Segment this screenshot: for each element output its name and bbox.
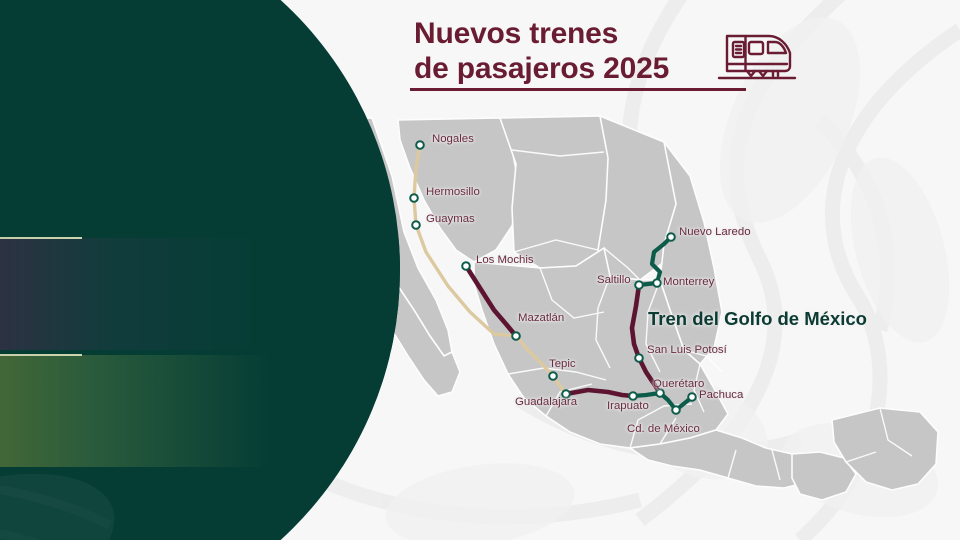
city-label-guadalajara: Guadalajara [515,396,577,408]
legend-heading-siguientes-etapas: Siguientes etapas [0,397,72,417]
list-item: Irapuato - Guadalajara [0,278,72,297]
city-label-guaymas: Guaymas [426,213,475,225]
city-node-monterrey [653,279,661,287]
legend-list-construccion: Ciudad de México - Pachuca Ciudad de Méx… [0,141,72,215]
list-item: Mazatlán - Los Mochis [0,334,72,353]
city-node-los-mochis [462,262,470,270]
legend-list-estudios: Irapuato - Guadalajara Querétaro - San L… [0,278,72,352]
city-node-san-luis-potosi [635,354,643,362]
legend-text-layer: En construcción (787 km) Ciudad de Méxic… [0,0,90,540]
legend-heading-estudios: En estudios técnicos previos (1,336 km) [0,257,72,275]
city-label-hermosillo: Hermosillo [426,186,480,198]
route-title-tren-del-golfo: Tren del Golfo de México [648,308,867,330]
city-label-monterrey: Monterrey [663,276,714,288]
page-title-underline [410,88,746,91]
city-label-cd-de-mexico: Cd. de México [627,423,700,435]
list-item: Ciudad de México - Querétaro [0,160,72,179]
legend-panel: En construcción (787 km) Ciudad de Méxic… [0,0,400,540]
legend-section-estudios: En estudios técnicos previos (1,336 km) … [0,257,72,352]
city-label-queretaro: Querétaro [653,378,704,390]
train-icon [717,26,797,88]
city-label-san-luis-potosi: San Luis Potosí [647,344,727,356]
city-node-pachuca [688,393,696,401]
city-node-cd-de-mexico [672,406,680,414]
city-node-irapuato [629,392,637,400]
slide-canvas: Nogales Hermosillo Guaymas Los Mochis Ma… [0,0,960,540]
page-title: Nuevos trenes de pasajeros 2025 [414,16,814,86]
city-label-tepic: Tepic [549,358,576,370]
list-item: Saltillo - Nuevo Laredo [0,197,72,216]
city-label-pachuca: Pachuca [699,389,743,401]
city-node-nogales [416,141,424,149]
city-node-tepic [549,372,557,380]
city-label-irapuato: Irapuato [607,400,649,412]
legend-heading-construccion: En construcción (787 km) [0,120,72,138]
city-node-hermosillo [410,194,418,202]
city-label-los-mochis: Los Mochis [476,254,534,266]
city-label-saltillo: Saltillo [597,274,631,286]
city-node-mazatlan [512,332,520,340]
city-label-nuevo-laredo: Nuevo Laredo [679,226,751,238]
list-item: San Luis Potosí - Saltillo [0,315,72,334]
city-node-queretaro [656,389,664,397]
city-node-saltillo [635,281,643,289]
city-node-guaymas [412,221,420,229]
city-label-mazatlan: Mazatlán [518,312,564,324]
list-item: Querétaro - Irapuato [0,178,72,197]
list-item: Ciudad de México - Pachuca [0,141,72,160]
city-node-nuevo-laredo [667,233,675,241]
list-item: Querétaro - San Luis Potosí [0,297,72,316]
legend-section-construccion: En construcción (787 km) Ciudad de Méxic… [0,120,72,215]
city-label-nogales: Nogales [432,133,474,145]
